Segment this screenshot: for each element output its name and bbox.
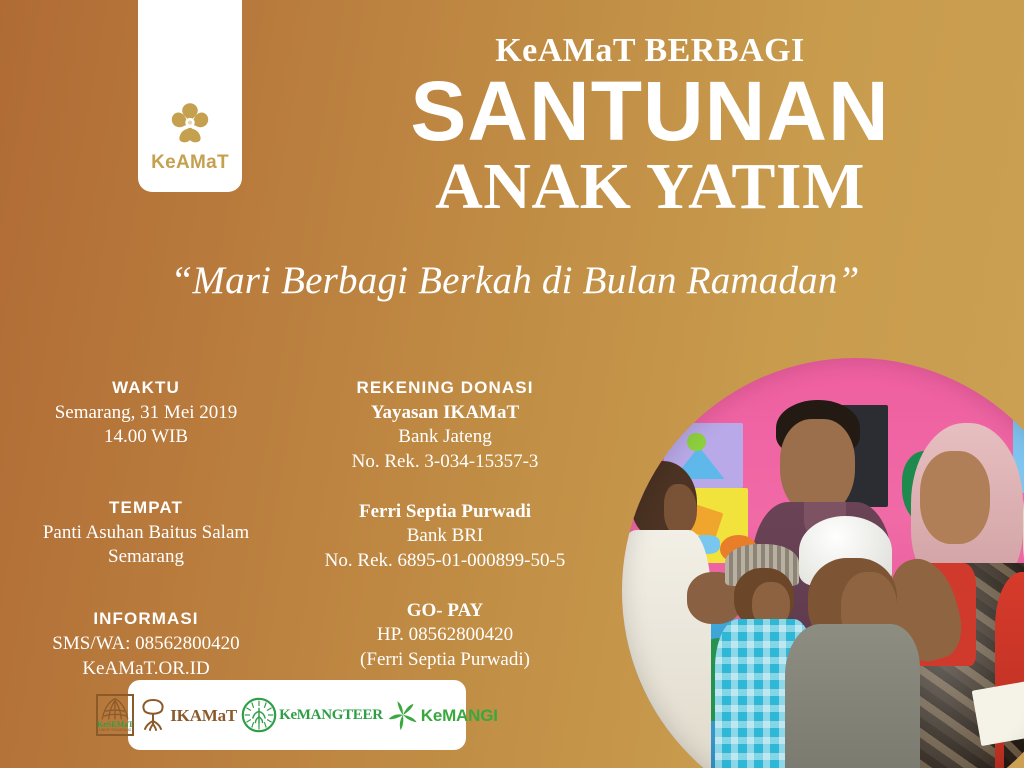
headline-block: KeAMaT BERBAGI SANTUNAN ANAK YATIM xyxy=(300,34,1000,220)
info-left-block-2: INFORMASISMS/WA: 08562800420KeAMaT.OR.ID xyxy=(16,609,276,681)
info-left-line-2-1: KeAMaT.OR.ID xyxy=(16,657,276,681)
info-column-left: WAKTUSemarang, 31 Mei 201914.00 WIBTEMPA… xyxy=(0,378,298,681)
flower-icon xyxy=(164,96,216,148)
headline-sub: ANAK YATIM xyxy=(300,154,1000,220)
info-right-line-2-1: HP. 08562800420 xyxy=(306,623,584,647)
event-photo xyxy=(622,358,1024,768)
headline-main: SANTUNAN xyxy=(300,70,1000,152)
brand-logo-card: KeAMaT xyxy=(138,0,242,192)
partner-kemangteer-name: KeMANGTEER xyxy=(279,708,383,723)
tagline: “Mari Berbagi Berkah di Bulan Ramadan” xyxy=(60,258,970,303)
info-left-line-1-1: Semarang xyxy=(16,545,276,569)
info-left-block-1: TEMPATPanti Asuhan Baitus SalamSemarang xyxy=(16,498,276,570)
mangrove-circle-icon xyxy=(241,697,277,733)
info-right-line-2-2: (Ferri Septia Purwadi) xyxy=(306,648,584,672)
partner-kesemat-subtitle: UNDIP SEMARANG xyxy=(99,729,131,733)
brand-name: KeAMaT xyxy=(151,152,229,174)
info-left-heading-0: WAKTU xyxy=(16,378,276,398)
info-right-line-0-0: Yayasan IKAMaT xyxy=(306,401,584,425)
info-right-line-0-2: No. Rek. 3-034-15357-3 xyxy=(306,450,584,474)
info-right-line-1-1: Bank BRI xyxy=(306,524,584,548)
info-right-block-0: REKENING DONASIYayasan IKAMaTBank Jateng… xyxy=(306,378,584,474)
info-right-line-1-2: No. Rek. 6895-01-000899-50-5 xyxy=(306,549,584,573)
partner-kemangi-name: KeMANGI xyxy=(421,707,498,724)
info-left-heading-1: TEMPAT xyxy=(16,498,276,518)
partner-ikamat-name: IKAMaT xyxy=(170,707,237,724)
info-right-block-2: GO- PAYHP. 08562800420(Ferri Septia Purw… xyxy=(306,599,584,672)
info-right-line-0-1: Bank Jateng xyxy=(306,425,584,449)
info-left-block-0: WAKTUSemarang, 31 Mei 201914.00 WIB xyxy=(16,378,276,450)
info-left-line-2-0: SMS/WA: 08562800420 xyxy=(16,632,276,656)
info-left-line-1-0: Panti Asuhan Baitus Salam xyxy=(16,521,276,545)
mangrove-roots-icon xyxy=(98,697,132,721)
partner-ikamat: IKAMaT xyxy=(138,694,237,736)
partner-logo-bar: KeSEMaT UNDIP SEMARANG IKAMaT xyxy=(128,680,466,750)
info-left-line-0-0: Semarang, 31 Mei 2019 xyxy=(16,401,276,425)
info-right-block-1: Ferri Septia PurwadiBank BRINo. Rek. 689… xyxy=(306,500,584,573)
pinwheel-icon xyxy=(387,698,419,732)
info-right-heading-0: REKENING DONASI xyxy=(306,378,584,398)
mangrove-box-icon: KeSEMaT UNDIP SEMARANG xyxy=(96,694,134,736)
partner-kemangi: KeMANGI xyxy=(387,698,498,732)
partner-kesemat: KeSEMaT UNDIP SEMARANG xyxy=(96,694,134,736)
partner-kemangteer: KeMANGTEER xyxy=(241,697,383,733)
mangrove-tree-icon xyxy=(138,694,168,736)
info-right-line-1-0: Ferri Septia Purwadi xyxy=(306,500,584,524)
info-right-line-2-0: GO- PAY xyxy=(306,599,584,623)
info-column-right: REKENING DONASIYayasan IKAMaTBank Jateng… xyxy=(298,378,596,681)
poster-canvas: KeAMaT KeAMaT BERBAGI SANTUNAN ANAK YATI… xyxy=(0,0,1024,768)
info-columns: WAKTUSemarang, 31 Mei 201914.00 WIBTEMPA… xyxy=(0,378,596,681)
info-left-line-0-1: 14.00 WIB xyxy=(16,425,276,449)
info-left-heading-2: INFORMASI xyxy=(16,609,276,629)
headline-kicker: KeAMaT BERBAGI xyxy=(300,34,1000,68)
